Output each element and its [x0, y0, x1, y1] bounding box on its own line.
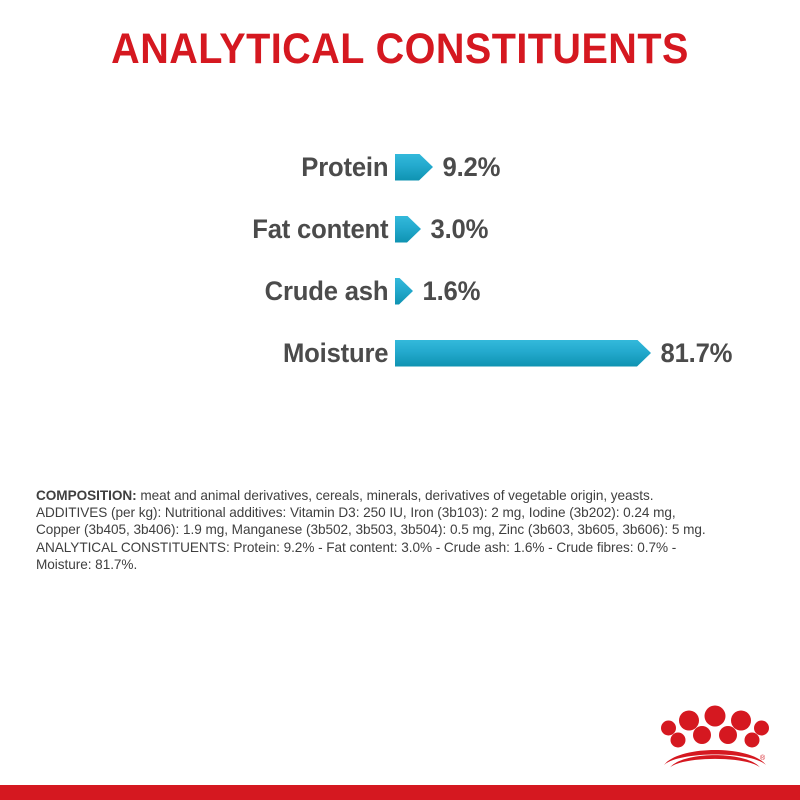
royal-canin-logo: ®	[661, 703, 769, 769]
bar-label: Moisture	[20, 338, 395, 369]
bar-track	[395, 216, 421, 243]
composition-line-4: ANALYTICAL CONSTITUENTS: Protein: 9.2% -…	[36, 539, 766, 556]
composition-text-block: COMPOSITION: meat and animal derivatives…	[36, 487, 766, 573]
bar-arrow	[395, 216, 421, 243]
bar-track	[395, 340, 651, 367]
bar-track	[395, 154, 433, 181]
bottom-red-band	[0, 785, 800, 800]
bar-label: Crude ash	[20, 276, 395, 307]
composition-label: COMPOSITION:	[36, 488, 137, 503]
composition-line-2: ADDITIVES (per kg): Nutritional additive…	[36, 504, 766, 521]
bar-arrow	[395, 278, 413, 305]
composition-line-1-text: meat and animal derivatives, cereals, mi…	[137, 488, 654, 503]
bar-row: Crude ash1.6%	[0, 269, 800, 313]
bar-arrow	[395, 154, 433, 181]
bar-value: 3.0%	[421, 214, 488, 245]
registered-trademark-symbol: ®	[760, 754, 766, 762]
bar-row: Fat content3.0%	[0, 207, 800, 251]
composition-line-5: Moisture: 81.7%.	[36, 556, 766, 573]
bar-arrow	[395, 340, 651, 367]
composition-line-3: Copper (3b405, 3b406): 1.9 mg, Manganese…	[36, 521, 766, 538]
bar-row: Moisture81.7%	[0, 331, 800, 375]
bar-track	[395, 278, 413, 305]
page-title: ANALYTICAL CONSTITUENTS	[32, 26, 768, 72]
bar-label: Fat content	[20, 214, 395, 245]
bar-value: 9.2%	[433, 152, 500, 183]
composition-line-1: COMPOSITION: meat and animal derivatives…	[36, 487, 766, 504]
bar-label: Protein	[20, 152, 395, 183]
bar-value: 1.6%	[413, 276, 480, 307]
crown-icon: ®	[661, 703, 769, 769]
bar-value: 81.7%	[651, 338, 732, 369]
bar-row: Protein9.2%	[0, 145, 800, 189]
